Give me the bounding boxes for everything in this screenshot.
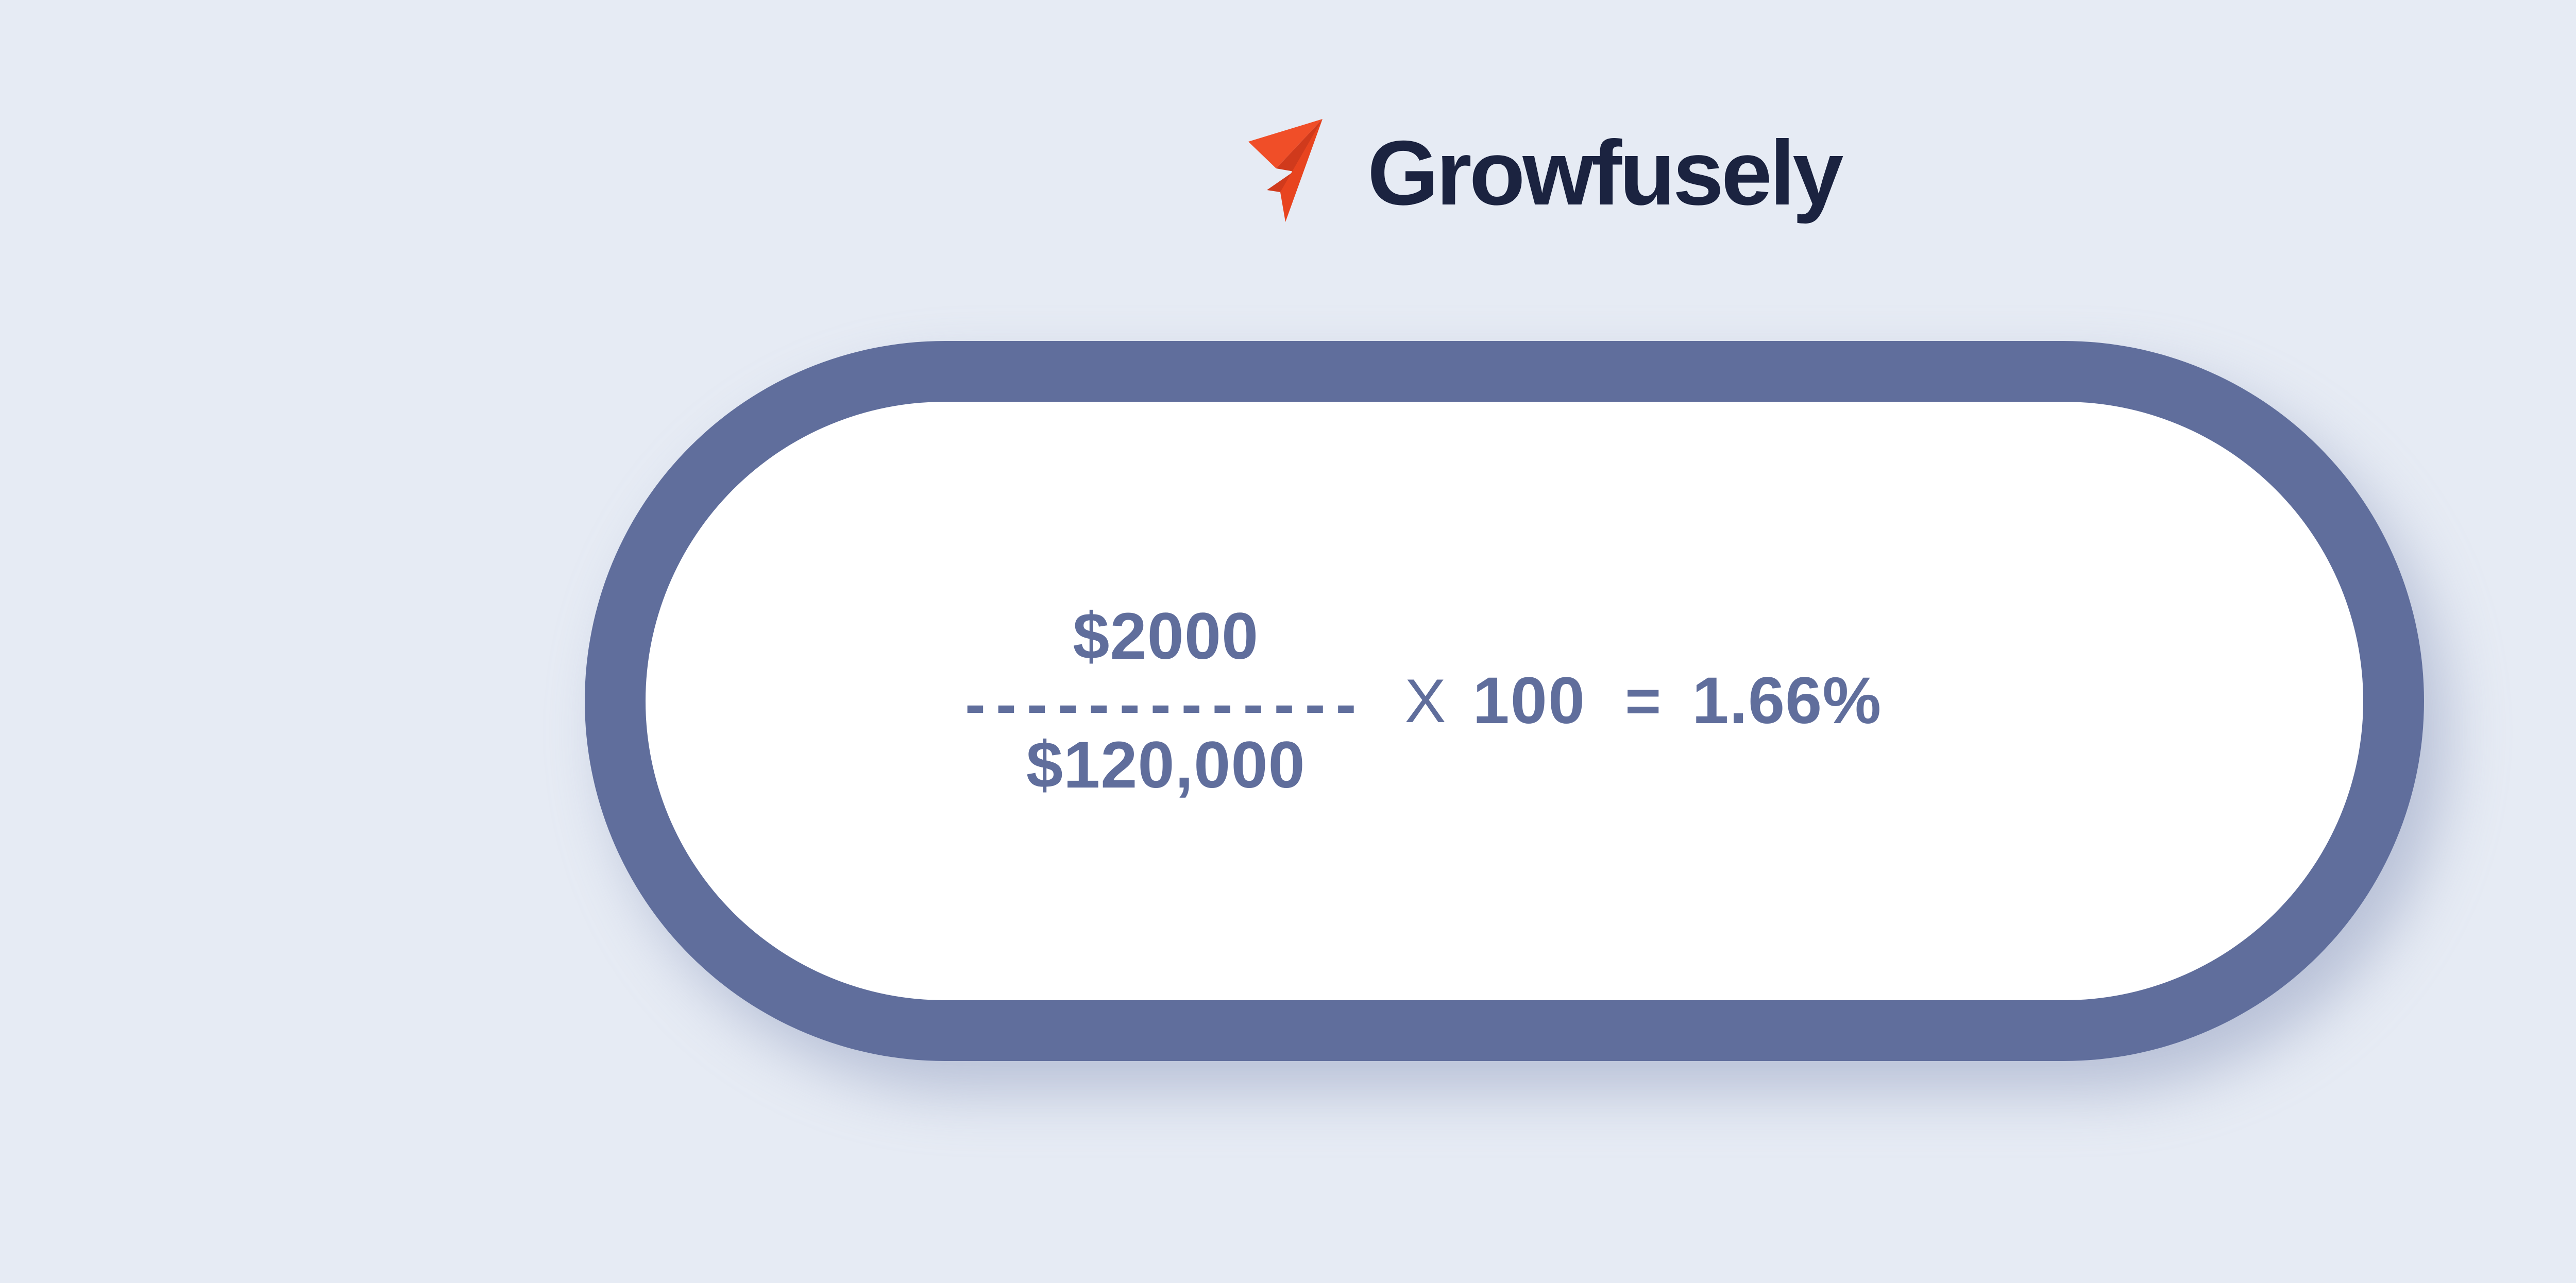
brand-wordmark: Growfusely xyxy=(1367,127,1841,219)
fraction: $2000 ------------- $120,000 xyxy=(965,604,1367,798)
result-value: 1.66% xyxy=(1692,668,1882,734)
fraction-numerator: $2000 xyxy=(1073,604,1259,670)
formula-card-inner: $2000 ------------- $120,000 X 100 = 1.6… xyxy=(646,402,2363,1000)
multiplier-value: 100 xyxy=(1473,668,1586,734)
paper-plane-icon xyxy=(1244,115,1355,226)
equals-operator: = xyxy=(1625,670,1661,732)
fraction-denominator: $120,000 xyxy=(1026,732,1306,798)
formula-card: $2000 ------------- $120,000 X 100 = 1.6… xyxy=(585,341,2424,1061)
multiply-operator: X xyxy=(1405,670,1446,732)
fraction-bar: ------------- xyxy=(965,688,1367,718)
roi-formula-equation: $2000 ------------- $120,000 X 100 = 1.6… xyxy=(965,604,1882,798)
brand-logo[interactable]: Growfusely xyxy=(1244,111,1790,229)
